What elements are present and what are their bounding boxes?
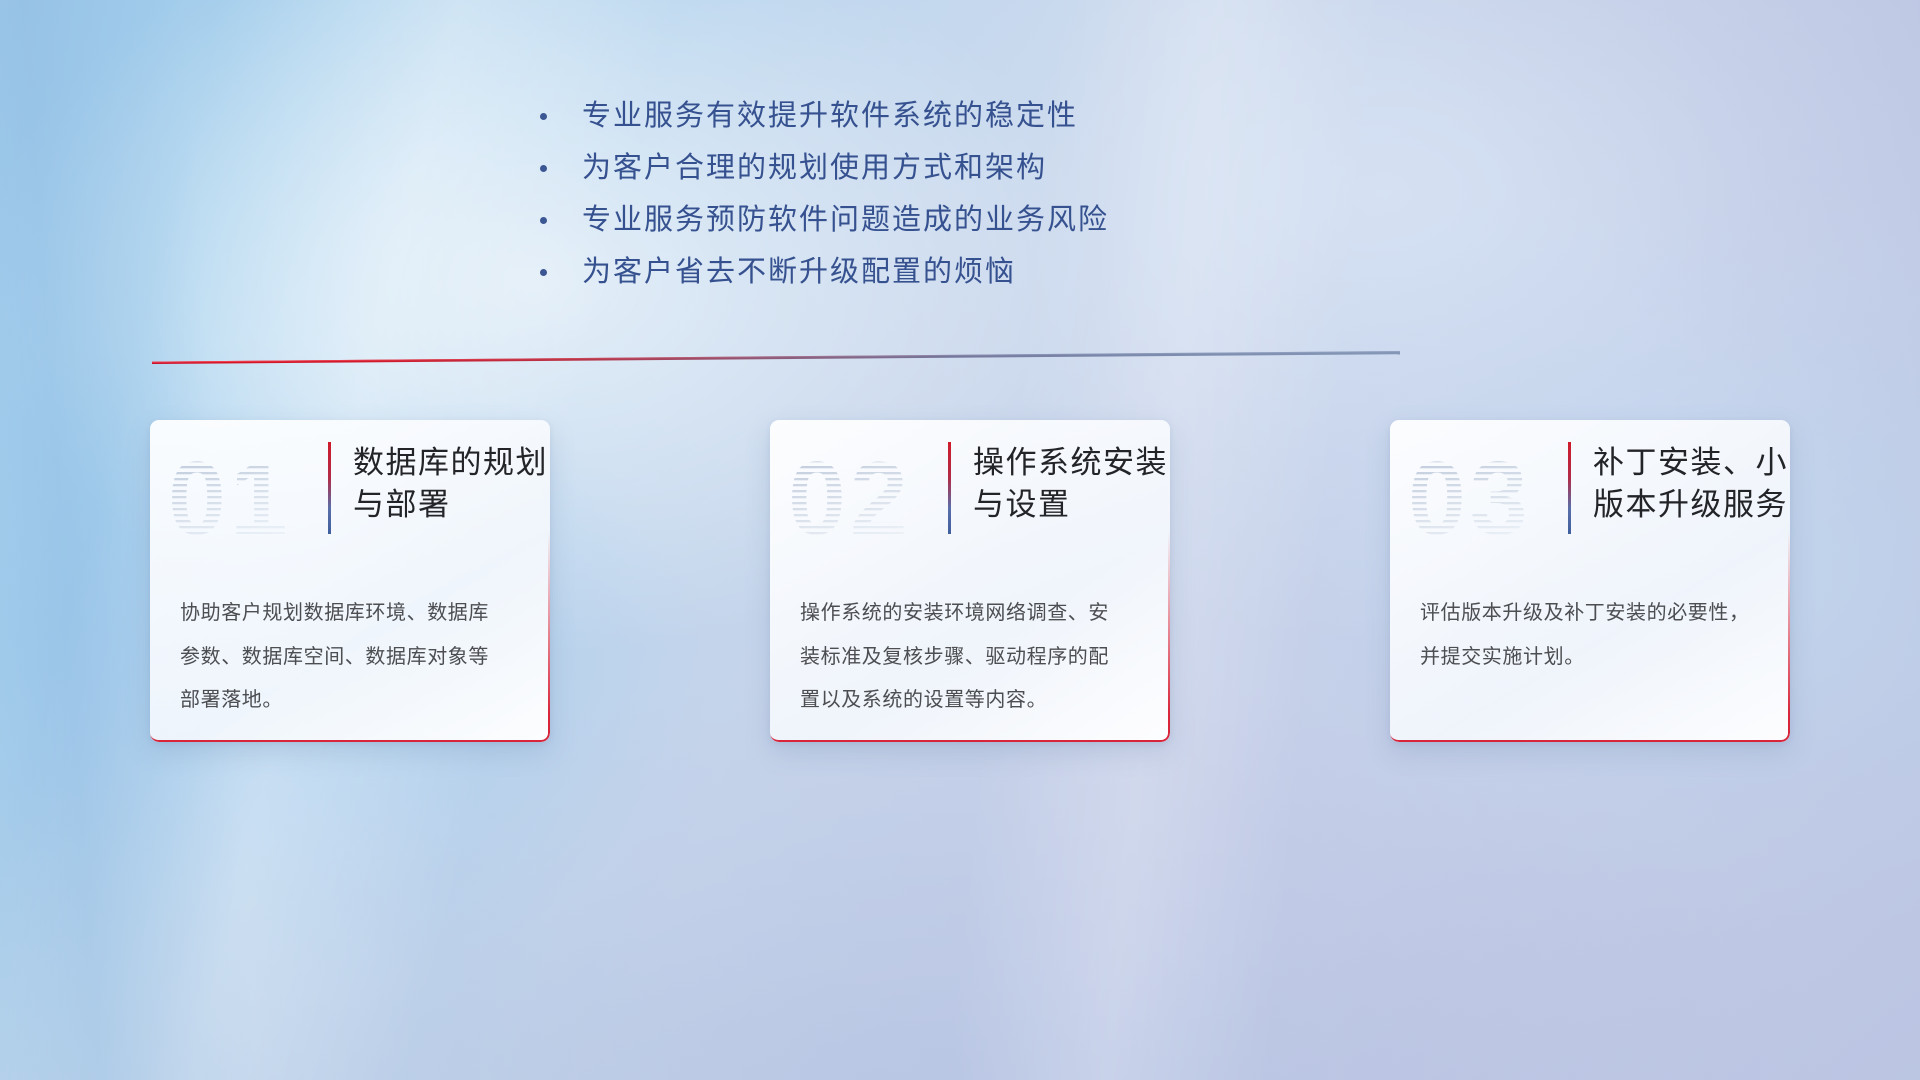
section-divider: [152, 348, 1400, 364]
card-title-group: 数据库的规划 与部署: [328, 442, 548, 534]
bullet-dot-icon: [540, 269, 547, 276]
card-title-group: 操作系统安装 与设置: [948, 442, 1168, 534]
service-card-01[interactable]: 01 数据库的规划 与部署 协助客户规划数据库环境、数据库 参数、数据库空间、数…: [150, 420, 550, 742]
card-title: 数据库的规划 与部署: [353, 442, 548, 525]
list-item: 专业服务有效提升软件系统的稳定性: [540, 90, 1440, 142]
card-body-text: 评估版本升级及补丁安装的必要性， 并提交实施计划。: [1420, 592, 1766, 679]
ghost-number-01: 01: [168, 442, 318, 554]
list-item: 专业服务预防软件问题造成的业务风险: [540, 194, 1440, 246]
list-item: 为客户合理的规划使用方式和架构: [540, 142, 1440, 194]
service-cards-row: 01 数据库的规划 与部署 协助客户规划数据库环境、数据库 参数、数据库空间、数…: [150, 420, 1790, 750]
svg-text:03: 03: [1408, 442, 1532, 554]
benefits-bullet-list: 专业服务有效提升软件系统的稳定性 为客户合理的规划使用方式和架构 专业服务预防软…: [540, 90, 1440, 298]
ghost-number-02: 02: [788, 442, 938, 554]
bullet-dot-icon: [540, 113, 547, 120]
service-card-03[interactable]: 03 补丁安装、小 版本升级服务 评估版本升级及补丁安装的必要性， 并提交实施计…: [1390, 420, 1790, 742]
bullet-dot-icon: [540, 165, 547, 172]
card-title: 操作系统安装 与设置: [973, 442, 1168, 525]
bullet-dot-icon: [540, 217, 547, 224]
card-title-group: 补丁安装、小 版本升级服务: [1568, 442, 1788, 534]
card-body-text: 协助客户规划数据库环境、数据库 参数、数据库空间、数据库对象等 部署落地。: [180, 592, 526, 723]
bullet-text: 为客户省去不断升级配置的烦恼: [582, 258, 1016, 287]
card-title: 补丁安装、小 版本升级服务: [1593, 442, 1788, 525]
striped-number-icon: 03: [1408, 442, 1558, 554]
svg-text:01: 01: [168, 442, 292, 554]
title-accent-bar: [1568, 442, 1571, 534]
title-accent-bar: [948, 442, 951, 534]
card-header: 02 操作系统安装 与设置: [770, 420, 1170, 580]
card-body-text: 操作系统的安装环境网络调查、安 装标准及复核步骤、驱动程序的配 置以及系统的设置…: [800, 592, 1146, 723]
striped-number-icon: 01: [168, 442, 318, 554]
striped-number-icon: 02: [788, 442, 938, 554]
title-accent-bar: [328, 442, 331, 534]
ghost-number-03: 03: [1408, 442, 1558, 554]
service-card-02[interactable]: 02 操作系统安装 与设置 操作系统的安装环境网络调查、安 装标准及复核步骤、驱…: [770, 420, 1170, 742]
bullet-text: 专业服务有效提升软件系统的稳定性: [582, 102, 1078, 131]
list-item: 为客户省去不断升级配置的烦恼: [540, 246, 1440, 298]
bullet-text: 为客户合理的规划使用方式和架构: [582, 154, 1047, 183]
svg-text:02: 02: [788, 442, 912, 554]
card-header: 01 数据库的规划 与部署: [150, 420, 550, 580]
bullet-text: 专业服务预防软件问题造成的业务风险: [582, 206, 1109, 235]
divider-wedge-icon: [152, 348, 1400, 364]
card-header: 03 补丁安装、小 版本升级服务: [1390, 420, 1790, 580]
